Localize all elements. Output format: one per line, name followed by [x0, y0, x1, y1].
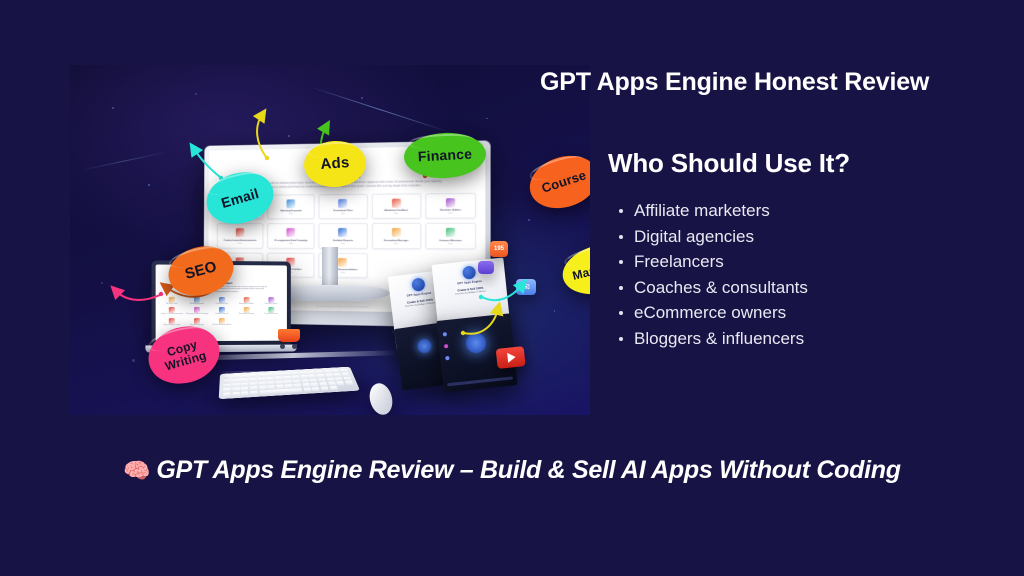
product-box-group: GPT Apps Engine Create & Sell 100% Done-…: [392, 257, 572, 407]
monitor-stand-neck: [322, 247, 338, 289]
app-icon: [339, 199, 348, 208]
app-card-type: Free: [270, 213, 312, 215]
keyboard-key: [329, 386, 337, 390]
app-icon: [219, 318, 225, 324]
app-icon: [194, 307, 200, 313]
product-box-dark-front: [436, 313, 517, 392]
keyboard-key: [223, 392, 231, 396]
dashboard-app-grid: Ad Copy CreatorMarketing ResponderPromot…: [161, 297, 282, 326]
app-card-type: Free: [220, 243, 261, 245]
keyboard-key: [232, 392, 240, 396]
app-card-name: Abandoned Cart Alerts: [374, 210, 418, 213]
audience-list-item: Coaches & consultants: [634, 275, 808, 301]
audience-list-item: Digital agencies: [634, 224, 808, 250]
app-icon: [268, 307, 274, 313]
app-card-name: Personal Recommendations: [211, 325, 233, 326]
app-card-name: Abandoned Cart Alerts: [236, 304, 258, 305]
dashboard-app-card: Customer MilestonesFree: [425, 223, 476, 249]
dashboard-app-card: Referral Program Promos: [161, 318, 184, 326]
app-icon: [244, 307, 250, 313]
app-icon: [392, 198, 401, 207]
dashboard-app-card: Abandoned Cart AlertsFree: [371, 193, 421, 219]
app-icon: [219, 307, 225, 313]
audience-list-item: Affiliate marketers: [634, 198, 808, 224]
dashboard-app-card: Personalized Messages: [236, 307, 258, 315]
app-card-type: Free: [428, 213, 473, 215]
app-icon: [194, 297, 200, 303]
dashboard-app-card: Customer Milestones: [260, 307, 282, 315]
app-icon: [244, 297, 250, 303]
app-card-type: Free: [270, 243, 312, 245]
app-icon: [287, 228, 296, 237]
notification-badge-icon: 195: [490, 241, 508, 257]
app-card-name: Promotional Offers: [211, 304, 233, 305]
hero-image-panel: Marketing Expert Grow your business with…: [70, 65, 590, 415]
dashboard-app-card: Product Launch AnnouncementsFree: [217, 224, 264, 249]
dashboard-app-card: Re-engagement Email Campaign: [186, 307, 208, 315]
app-card-name: Personalized Messages: [236, 314, 258, 315]
page-title: GPT Apps Engine Honest Review: [540, 68, 1018, 97]
app-card-type: Free: [374, 243, 418, 245]
footer-caption: 🧠GPT Apps Engine Review – Build & Sell A…: [0, 456, 1024, 485]
audience-list-item: Freelancers: [634, 249, 808, 275]
product-logo-icon: [411, 277, 425, 291]
section-heading: Who Should Use It?: [608, 148, 850, 179]
keyboard-key: [312, 387, 320, 391]
app-icon: [446, 198, 455, 207]
app-card-name: Feedback Requests: [211, 314, 233, 315]
app-icon: [392, 228, 401, 237]
dashboard-app-card: Marketing Responder: [186, 297, 208, 305]
app-card-name: Newsletter Updates: [260, 304, 282, 305]
app-icon: [236, 228, 245, 237]
keyboard-key: [241, 391, 249, 395]
app-icon: [339, 228, 348, 237]
dashboard-app-card: Personal Recommendations: [211, 318, 233, 326]
dashboard-app-card: Marketing ResponderFree: [267, 194, 315, 220]
app-card-name: Marketing Responder: [186, 304, 208, 305]
audience-list-item: eCommerce owners: [634, 300, 808, 326]
dashboard-app-card: Ad Copy Creator: [161, 297, 184, 305]
app-card-name: Customer Milestones: [428, 240, 473, 243]
app-card-name: Re-engagement Email Campaign: [186, 314, 208, 315]
app-icon: [169, 297, 175, 303]
dashboard-app-card: Feedback RequestsFree: [319, 223, 368, 249]
product-logo-icon: [461, 266, 475, 280]
keyboard-key: [303, 388, 311, 392]
dashboard-app-card: Promotional OffersFree: [319, 194, 368, 220]
brain-icon: 🧠: [123, 458, 150, 483]
app-icon: [169, 307, 175, 313]
dashboard-app-card: Product Launch Announcements: [161, 307, 184, 315]
app-icon: [338, 258, 347, 267]
dashboard-app-card: Feedback Requests: [211, 307, 233, 315]
app-card-name: Newsletter Updates: [428, 210, 473, 213]
keyboard-key: [321, 386, 329, 390]
app-card-type: Free: [374, 213, 418, 215]
app-icon: [446, 228, 455, 237]
dashboard-app-card: Promotional Offers: [211, 297, 233, 305]
app-card-type: Free: [428, 243, 473, 245]
dashboard-app-card: Newsletter Updates: [260, 297, 282, 305]
footer-caption-text: GPT Apps Engine Review – Build & Sell AI…: [156, 456, 900, 484]
audience-list-item: Bloggers & influencers: [634, 326, 808, 352]
audience-list: Affiliate marketersDigital agenciesFreel…: [612, 198, 808, 351]
app-card-name: Ad Copy Creator: [161, 304, 184, 305]
keyboard-key: [250, 391, 258, 395]
youtube-icon: [496, 346, 526, 369]
app-icon: [194, 318, 200, 324]
email-icon: ✉: [516, 279, 536, 295]
app-card-type: Free: [322, 243, 365, 245]
dashboard-app-card: Abandoned Cart Alerts: [236, 297, 258, 305]
app-card-name: Personalized Messages: [374, 240, 418, 243]
app-icon: [169, 318, 175, 324]
app-card-name: Product Launch Announcements: [161, 314, 184, 315]
dashboard-app-card: Re-engagement Email CampaignFree: [267, 223, 315, 248]
shopping-cart-icon: [276, 327, 302, 349]
dashboard-app-card: Newsletter UpdatesFree: [425, 193, 476, 219]
app-icon: [268, 297, 274, 303]
dashboard-app-card: Personalized MessagesFree: [371, 223, 421, 249]
app-icon: [287, 199, 296, 208]
app-icon: [219, 297, 225, 303]
app-card-name: Customer Milestones: [260, 314, 282, 315]
envelope-icon: [478, 261, 494, 274]
dashboard-app-card: Seasonal Campaigns: [186, 318, 208, 326]
app-card-type: Free: [322, 213, 365, 215]
